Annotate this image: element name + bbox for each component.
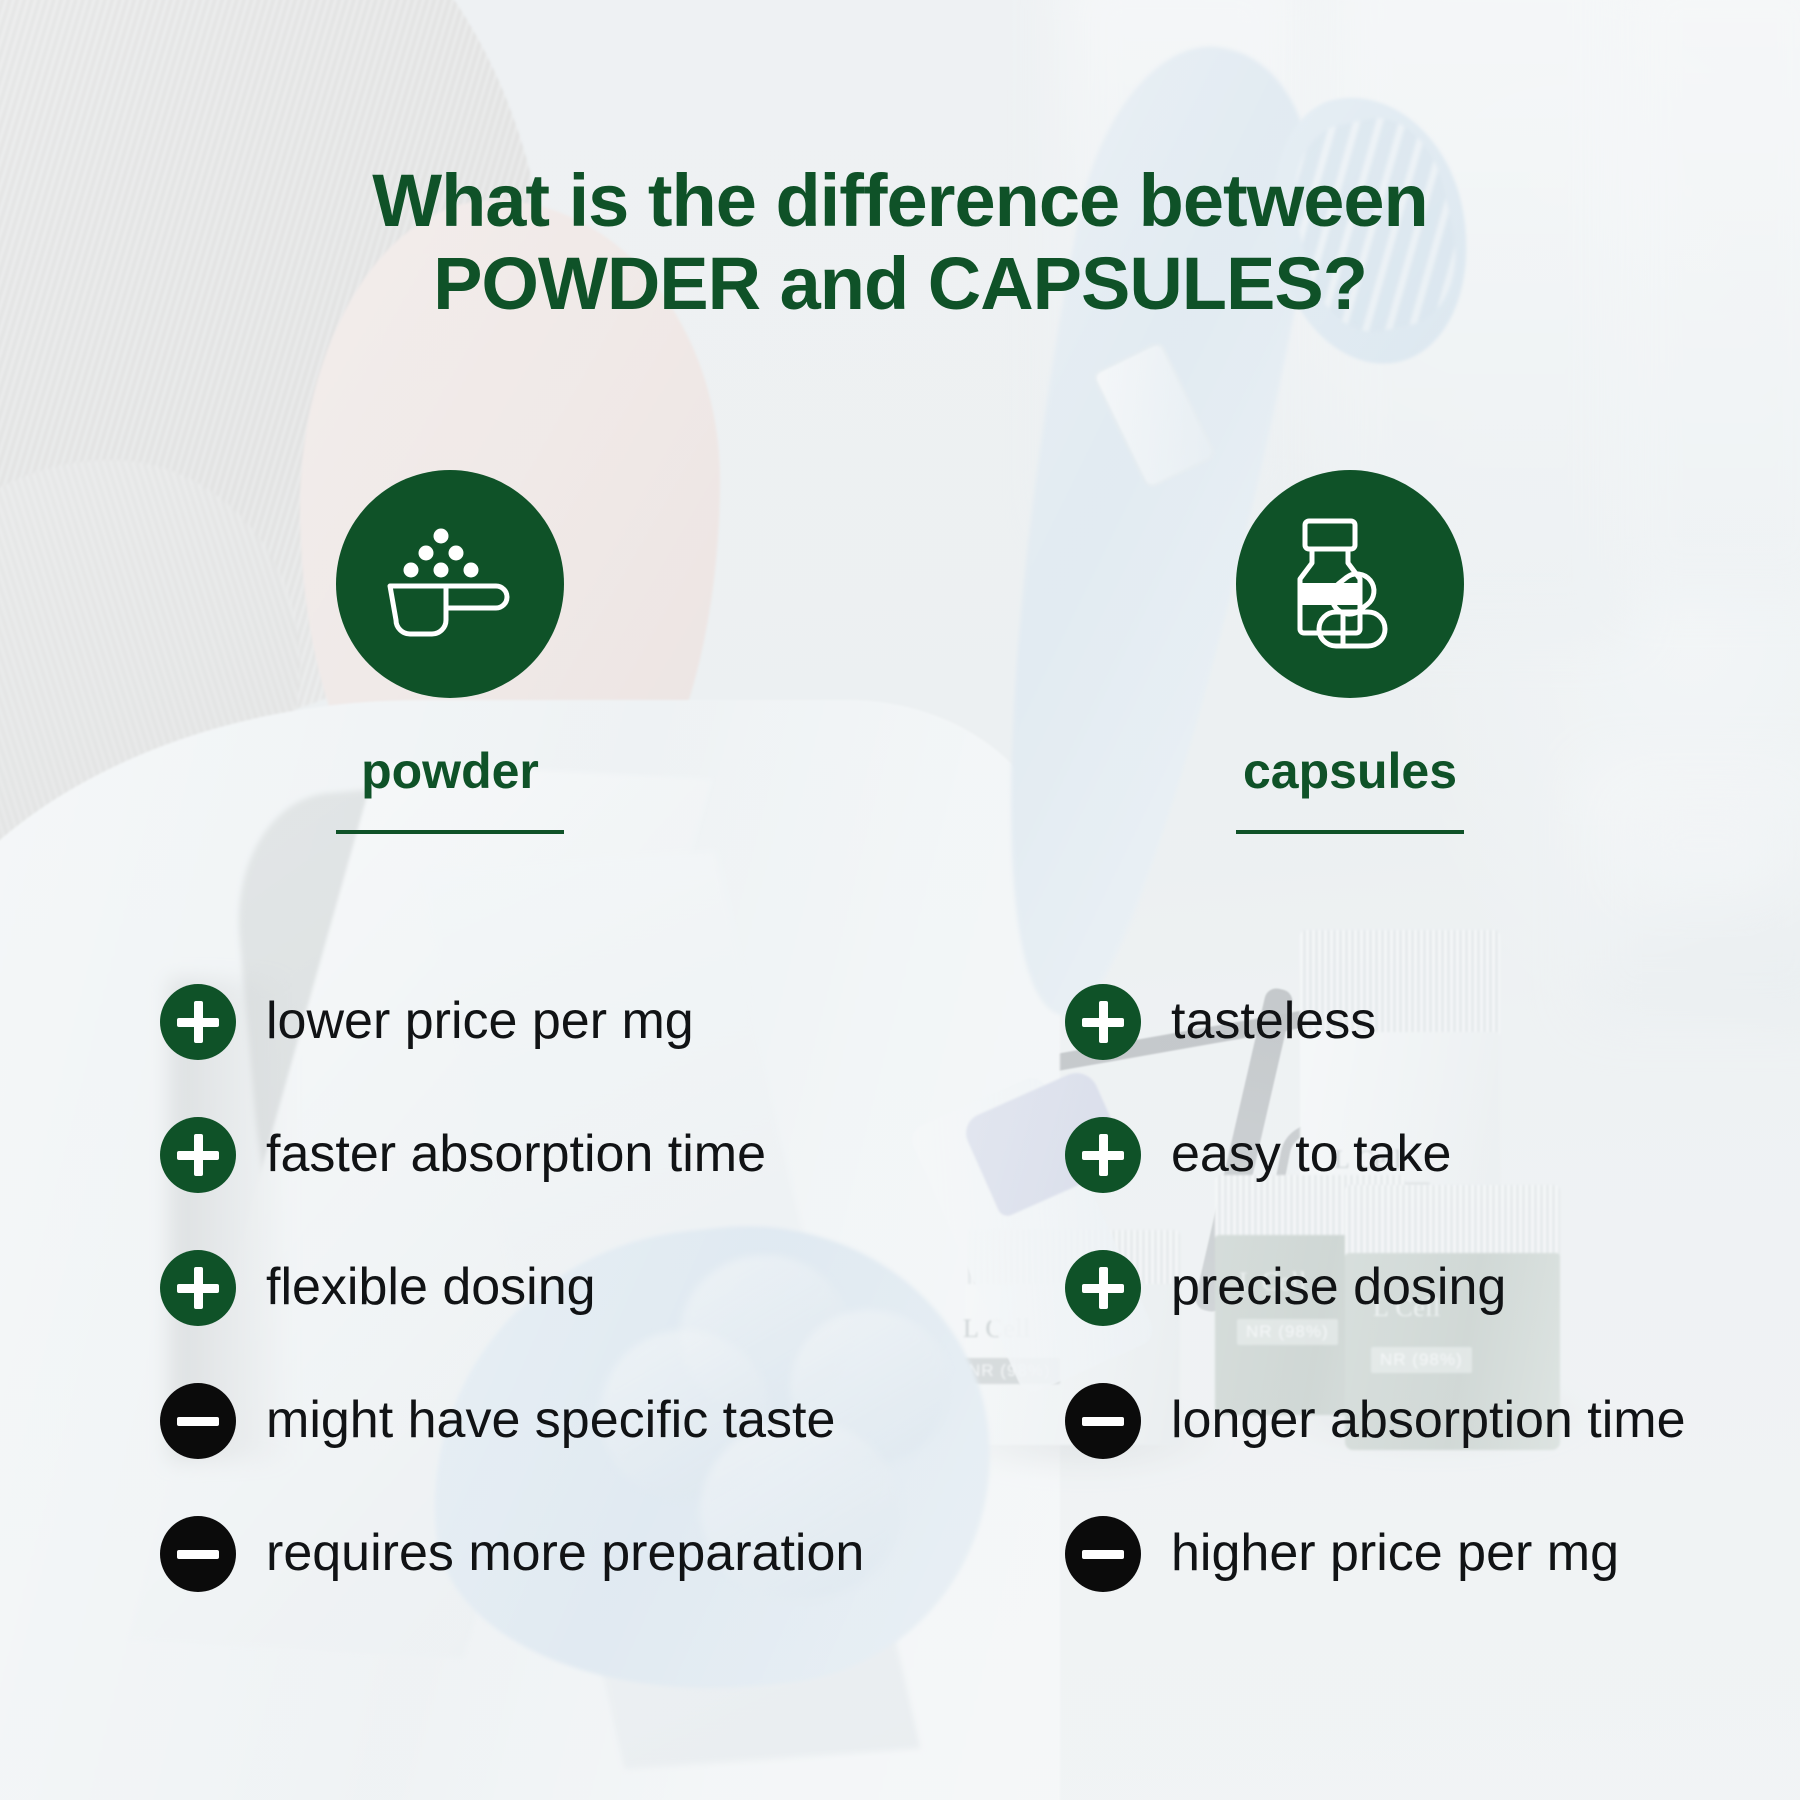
column-powder: powder	[0, 470, 900, 834]
list-item: requires more preparation	[160, 1487, 900, 1620]
column-capsules: capsules	[900, 470, 1800, 834]
minus-icon	[1065, 1383, 1141, 1459]
list-item-label: lower price per mg	[266, 994, 694, 1049]
plus-icon	[1065, 984, 1141, 1060]
powder-benefits-list: lower price per mg faster absorption tim…	[0, 955, 900, 1620]
list-item: lower price per mg	[160, 955, 900, 1088]
list-item-label: longer absorption time	[1171, 1393, 1686, 1448]
list-item: longer absorption time	[1065, 1354, 1800, 1487]
minus-icon	[160, 1383, 236, 1459]
list-item-label: requires more preparation	[266, 1526, 864, 1581]
plus-icon	[160, 984, 236, 1060]
capsules-icon-circle	[1236, 470, 1464, 698]
list-item: higher price per mg	[1065, 1487, 1800, 1620]
column-underline	[336, 830, 564, 834]
infographic-page: L Cell NR (98%) L Cell NR (98%) L Cell N…	[0, 0, 1800, 1800]
plus-icon	[1065, 1117, 1141, 1193]
list-item: tasteless	[1065, 955, 1800, 1088]
list-item-label: precise dosing	[1171, 1260, 1506, 1315]
list-item-label: easy to take	[1171, 1127, 1451, 1182]
plus-icon	[160, 1250, 236, 1326]
column-label-capsules: capsules	[900, 742, 1800, 800]
comparison-lists: lower price per mg faster absorption tim…	[0, 955, 1800, 1620]
column-underline	[1236, 830, 1464, 834]
list-item: precise dosing	[1065, 1221, 1800, 1354]
title-line-1: What is the difference between	[0, 160, 1800, 243]
list-item: might have specific taste	[160, 1354, 900, 1487]
list-item: flexible dosing	[160, 1221, 900, 1354]
infographic-content: What is the difference between POWDER an…	[0, 0, 1800, 1800]
powder-icon-circle	[336, 470, 564, 698]
list-item: easy to take	[1065, 1088, 1800, 1221]
list-item-label: faster absorption time	[266, 1127, 766, 1182]
minus-icon	[160, 1516, 236, 1592]
minus-icon	[1065, 1516, 1141, 1592]
category-headers: powder	[0, 470, 1800, 834]
column-label-powder: powder	[0, 742, 900, 800]
pill-bottle-capsules-icon	[1286, 517, 1414, 651]
list-item: faster absorption time	[160, 1088, 900, 1221]
list-item-label: flexible dosing	[266, 1260, 596, 1315]
list-item-label: tasteless	[1171, 994, 1376, 1049]
powder-scoop-icon	[384, 522, 516, 646]
plus-icon	[1065, 1250, 1141, 1326]
page-title: What is the difference between POWDER an…	[0, 160, 1800, 326]
plus-icon	[160, 1117, 236, 1193]
list-item-label: higher price per mg	[1171, 1526, 1619, 1581]
list-item-label: might have specific taste	[266, 1393, 835, 1448]
title-line-2: POWDER and CAPSULES?	[0, 243, 1800, 326]
